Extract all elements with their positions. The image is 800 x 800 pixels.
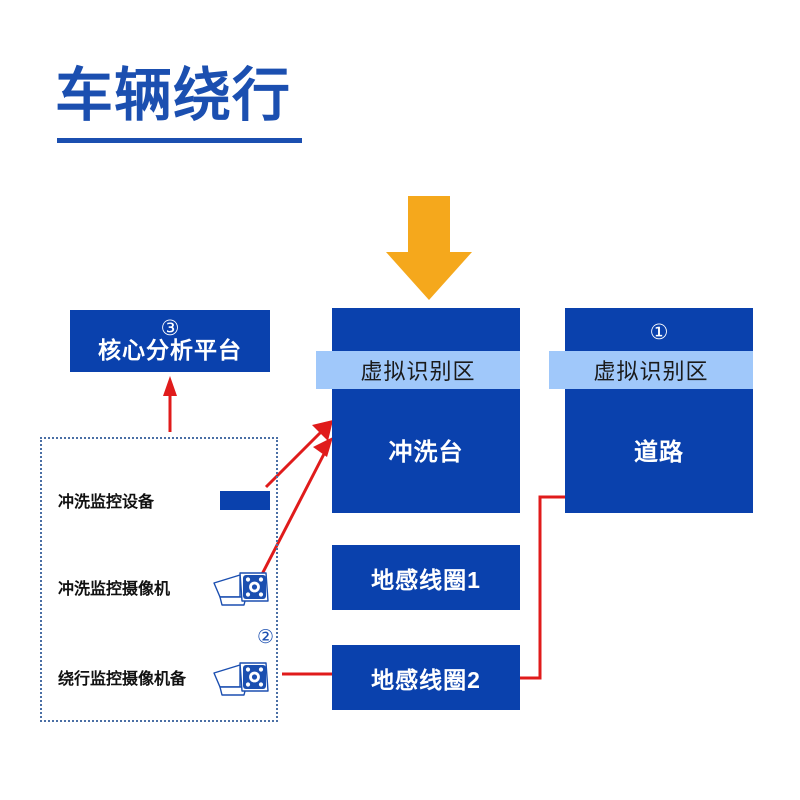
wash-station-box[interactable]: 冲洗台 — [332, 308, 520, 513]
cctv-camera-icon — [210, 657, 276, 699]
virtual-zone-band-center: 虚拟识别区 — [316, 351, 520, 389]
red-up-arrow-to-platform-icon — [163, 376, 177, 432]
ground-loop-1-box[interactable]: 地感线圈1 — [332, 545, 520, 610]
virtual-zone-band-center-label: 虚拟识别区 — [360, 354, 475, 386]
legend-box: 冲洗监控设备 冲洗监控摄像机 绕行 — [40, 437, 278, 722]
ground-loop-1-label: 地感线圈1 — [371, 561, 481, 595]
virtual-zone-band-right-label: 虚拟识别区 — [593, 354, 708, 386]
blue-rectangle-swatch-icon — [220, 491, 270, 510]
road-box[interactable]: ① 道路 — [565, 308, 753, 513]
ground-loop-2-box[interactable]: 地感线圈2 — [332, 645, 520, 710]
orange-down-arrow-icon — [386, 196, 472, 300]
legend-item-wash-camera[interactable]: 冲洗监控摄像机 — [42, 564, 280, 610]
red-elbow-arrow-loop2-to-road-icon — [520, 488, 608, 678]
diagram-canvas: 车辆绕行 ③ — [0, 0, 800, 800]
platform-marker: ③ — [70, 316, 270, 341]
legend-item-wash-device-label: 冲洗监控设备 — [58, 488, 154, 512]
virtual-zone-band-right: 虚拟识别区 — [549, 351, 753, 389]
legend-item-wash-device[interactable]: 冲洗监控设备 — [42, 477, 280, 523]
legend-item-bypass-camera[interactable]: 绕行监控摄像机备 ② — [42, 654, 280, 700]
core-analysis-platform-box[interactable]: ③ 核心分析平台 — [70, 310, 270, 372]
ground-loop-2-label: 地感线圈2 — [371, 661, 481, 695]
legend-item-bypass-camera-label: 绕行监控摄像机备 — [58, 665, 186, 689]
legend-item-wash-camera-label: 冲洗监控摄像机 — [58, 575, 170, 599]
road-marker: ① — [565, 320, 753, 345]
wash-station-label: 冲洗台 — [389, 432, 464, 467]
road-label: 道路 — [634, 432, 684, 467]
bypass-camera-marker: ② — [257, 626, 274, 649]
cctv-camera-icon — [210, 567, 276, 609]
